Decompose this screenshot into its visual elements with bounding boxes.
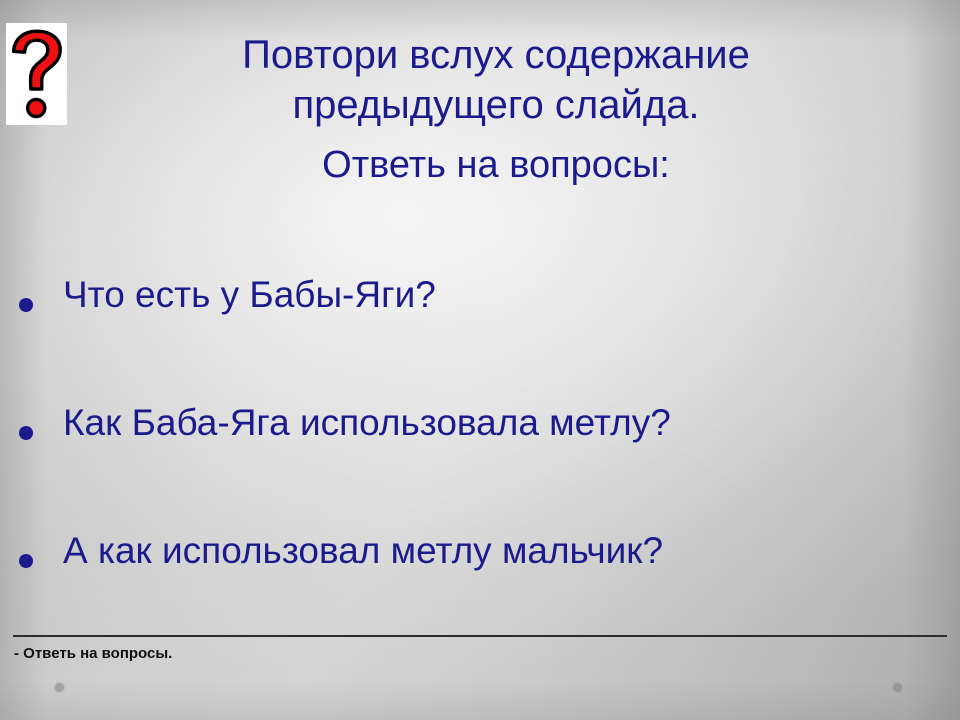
- footer-dot-right-icon: [893, 683, 902, 692]
- list-item-label: Что есть у Бабы-Яги?: [63, 272, 436, 318]
- list-item-label: Как Баба-Яга использовала метлу?: [63, 400, 671, 446]
- list-item-label: А как использовал метлу мальчик?: [63, 528, 663, 574]
- question-mark-icon: [11, 29, 63, 119]
- title-line-2: предыдущего слайда.: [96, 80, 896, 130]
- footer-dot-left-icon: [55, 683, 64, 692]
- list-item: Что есть у Бабы-Яги?: [0, 272, 960, 400]
- question-list: Что есть у Бабы-Яги? Как Баба-Яга исполь…: [0, 272, 960, 656]
- bullet-dot-icon: [19, 426, 33, 440]
- page-title: Повтори вслух содержание предыдущего сла…: [96, 30, 896, 190]
- footer-note: - Ответь на вопросы.: [14, 644, 172, 664]
- title-line-1: Повтори вслух содержание: [96, 30, 896, 80]
- bullet-dot-icon: [19, 554, 33, 568]
- slide-canvas: Повтори вслух содержание предыдущего сла…: [0, 0, 960, 720]
- list-item: Как Баба-Яга использовала метлу?: [0, 400, 960, 528]
- footer-divider: [13, 635, 947, 637]
- title-line-3: Ответь на вопросы:: [96, 130, 896, 190]
- bullet-dot-icon: [19, 298, 33, 312]
- question-mark-image-plate: [6, 23, 67, 125]
